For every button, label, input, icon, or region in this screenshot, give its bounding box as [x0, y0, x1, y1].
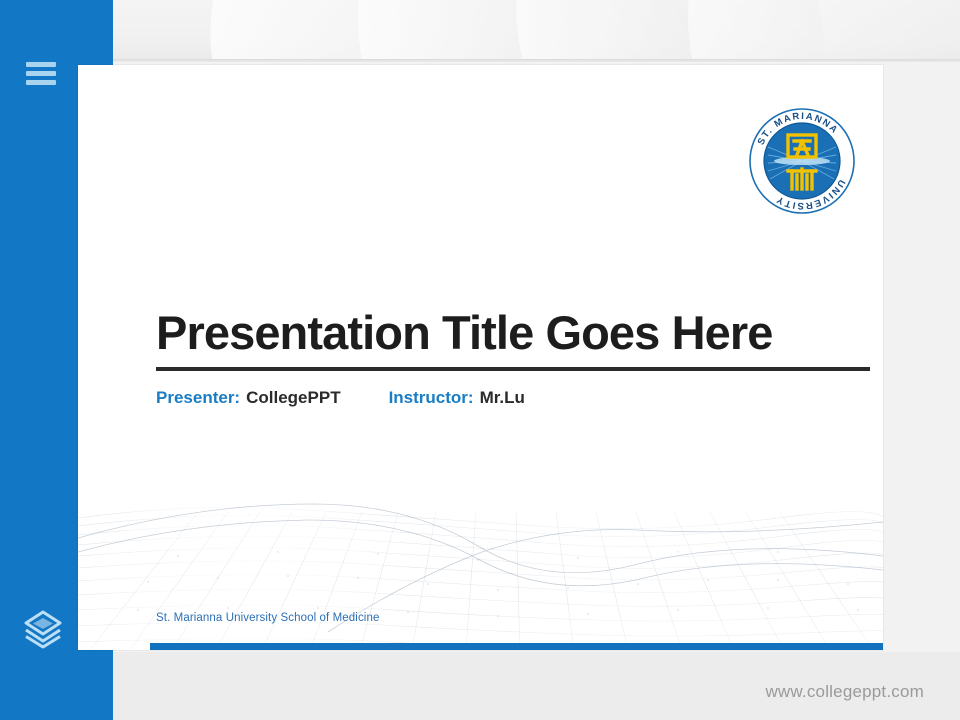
page-title: Presentation Title Goes Here: [156, 308, 871, 357]
top-decorative-band: [0, 0, 960, 62]
instructor-label: Instructor:: [389, 388, 474, 408]
presenter-value: CollegePPT: [246, 388, 340, 408]
presenter-label: Presenter:: [156, 388, 240, 408]
website-url: www.collegeppt.com: [765, 682, 924, 702]
slide-bottom-blue-bar: [150, 643, 883, 650]
presentation-screen: ST. MARIANNA UNIVERSITY Presentation Tit…: [0, 0, 960, 720]
instructor-value: Mr.Lu: [480, 388, 525, 408]
background-swoosh-4: [646, 0, 960, 62]
hamburger-bar-1: [26, 62, 56, 67]
st-marianna-university-seal: ST. MARIANNA UNIVERSITY: [748, 107, 856, 203]
slide-footer-text: St. Marianna University School of Medici…: [156, 612, 379, 624]
title-block: Presentation Title Goes Here Presenter: …: [156, 308, 871, 408]
top-band-edge: [0, 59, 960, 62]
hamburger-bar-3: [26, 80, 56, 85]
hamburger-bar-2: [26, 71, 56, 76]
layers-stack-icon[interactable]: [20, 604, 66, 650]
slide-canvas: ST. MARIANNA UNIVERSITY Presentation Tit…: [78, 65, 883, 650]
title-underline-rule: [156, 367, 870, 371]
presenter-meta-row: Presenter: CollegePPT Instructor: Mr.Lu: [156, 388, 871, 408]
hamburger-menu-icon[interactable]: [26, 60, 56, 86]
